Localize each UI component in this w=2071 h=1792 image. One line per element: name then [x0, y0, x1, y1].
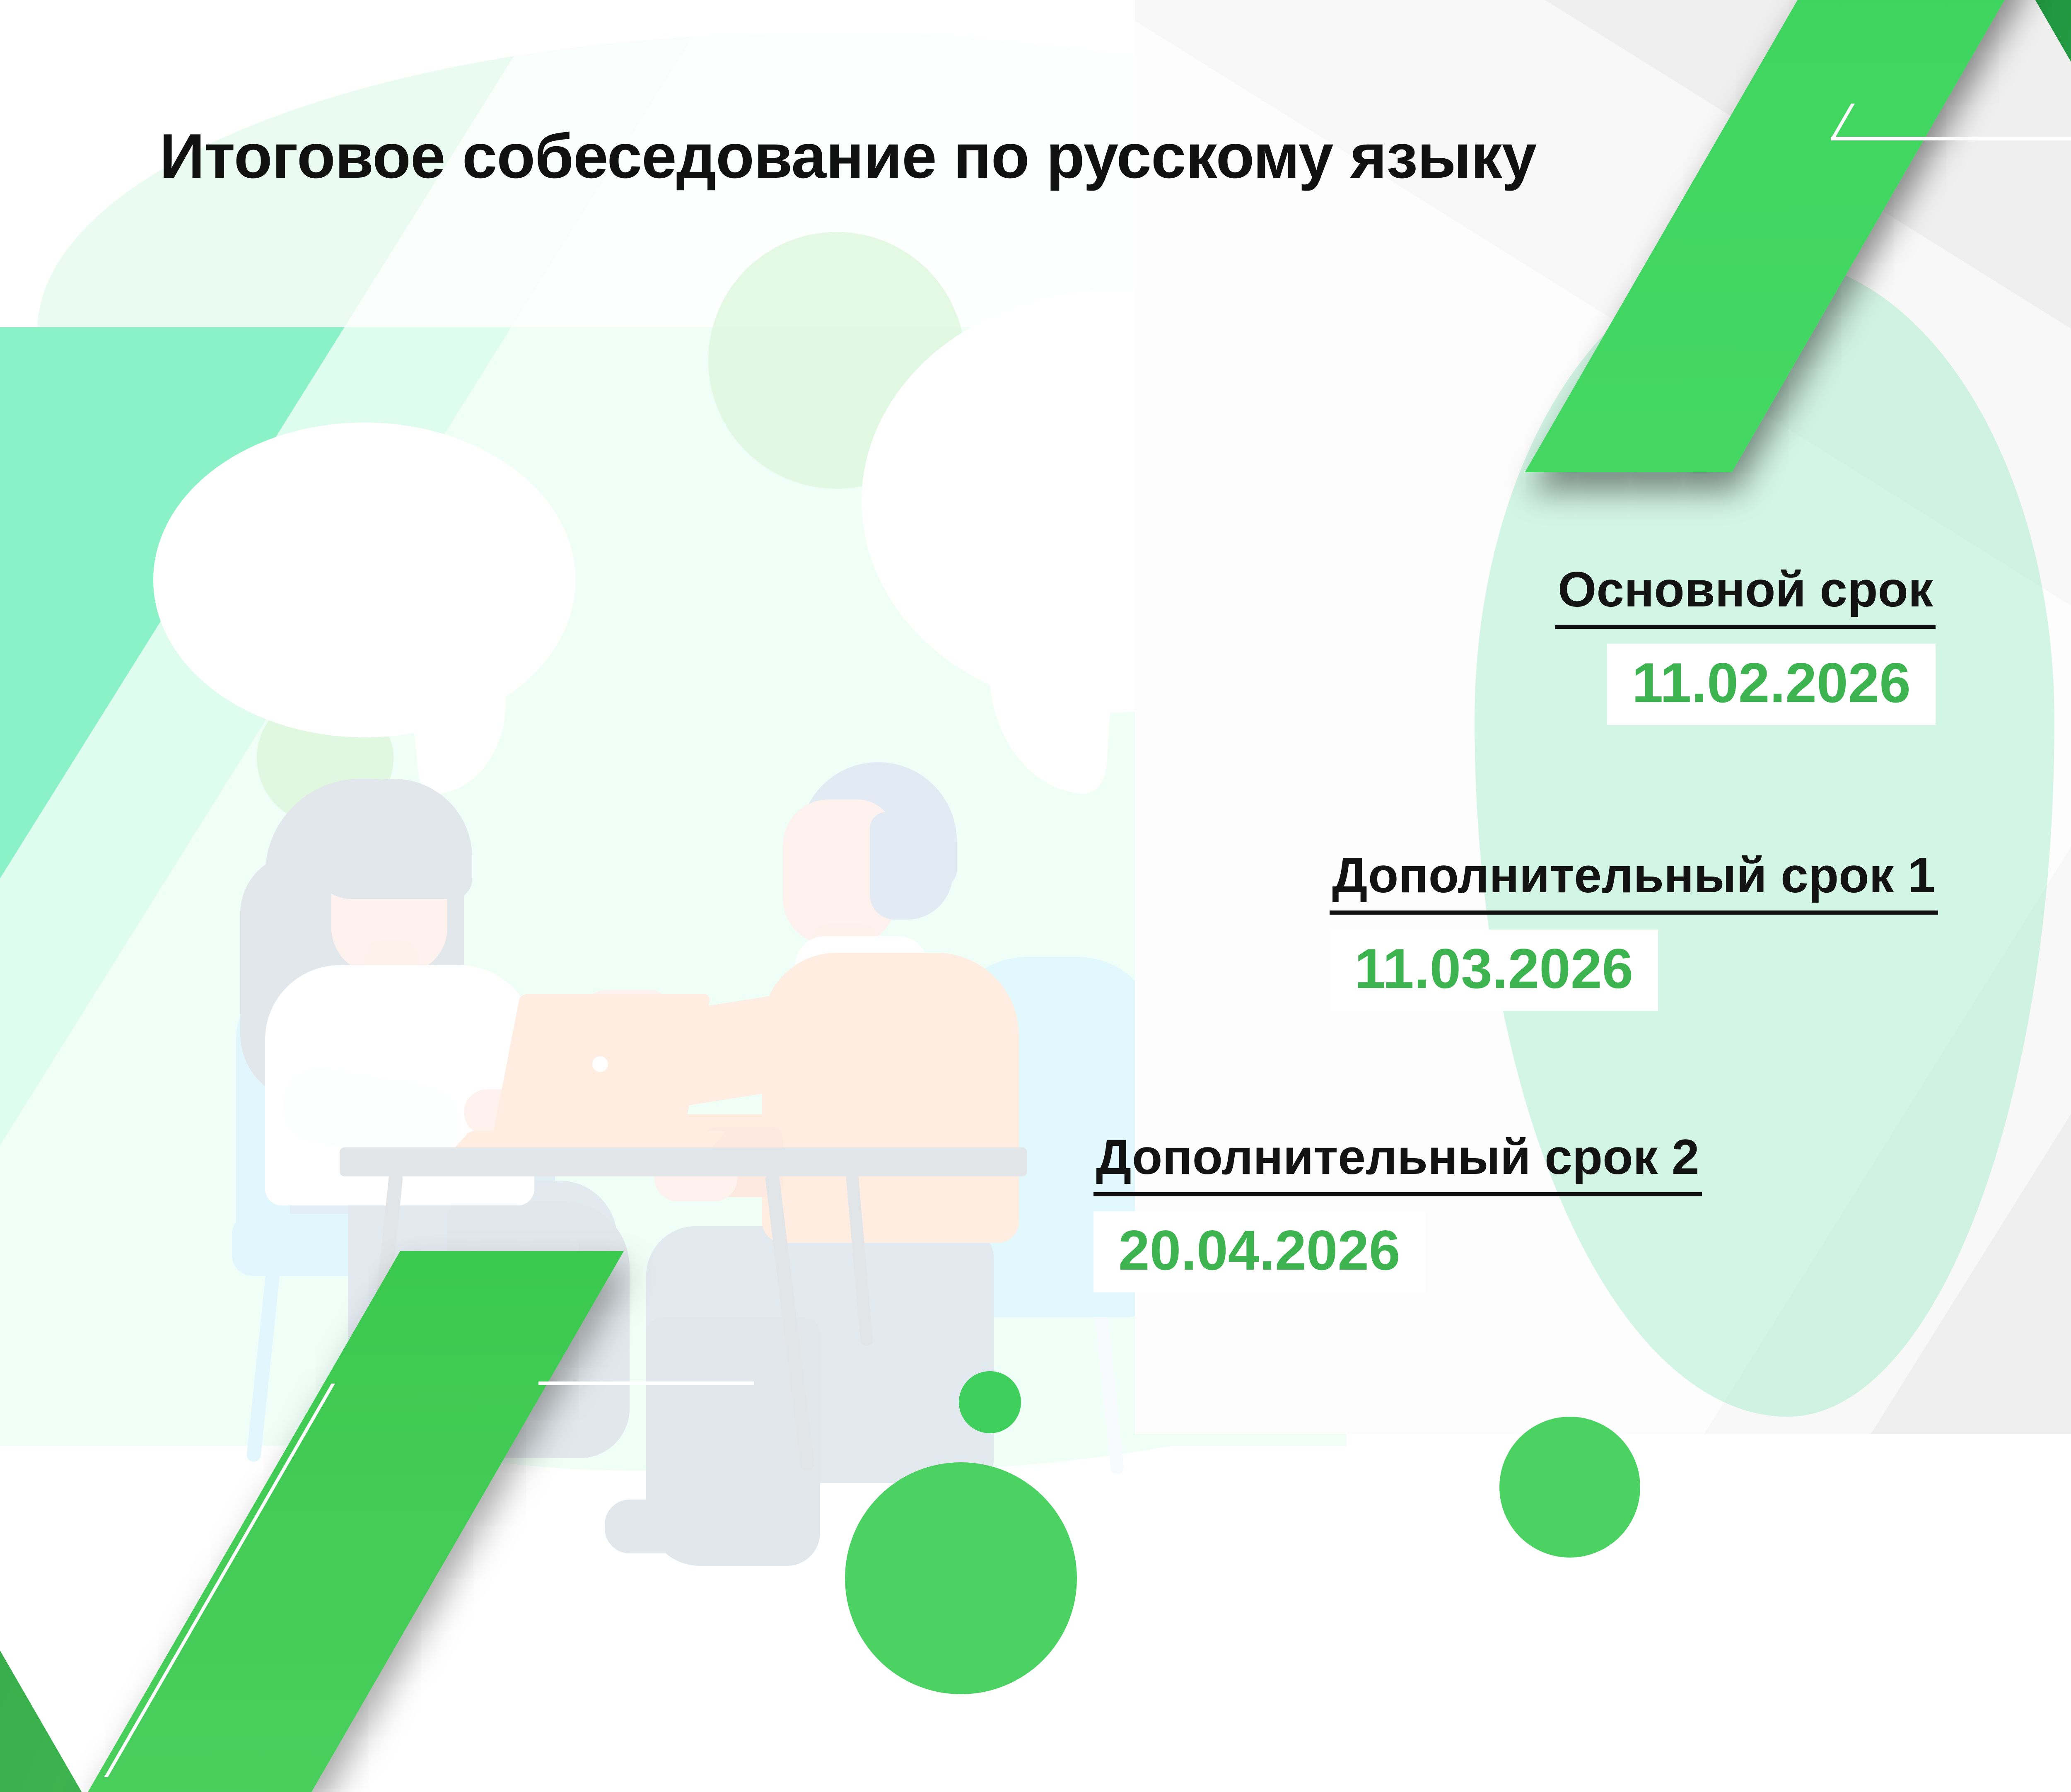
deadline-block-primary: Основной срок 11.02.2026 [1555, 563, 1936, 725]
green-circle-bottom-left [845, 1462, 1077, 1694]
page-title: Итоговое собеседование по русскому языку [159, 120, 1536, 193]
green-dot-mid [959, 1371, 1021, 1433]
deadline-label-primary: Основной срок [1555, 563, 1936, 629]
poster-canvas: Итоговое собеседование по русскому языку… [0, 0, 2071, 1792]
green-circle-bottom-right [1499, 1417, 1640, 1558]
ribbon-bottom-left-white-line-horizontal [538, 1381, 754, 1385]
deadline-label-extra-2: Дополнительный срок 2 [1093, 1131, 1702, 1196]
deadline-block-extra-1: Дополнительный срок 1 11.03.2026 [1330, 849, 1938, 1011]
deadline-date-extra-1: 11.03.2026 [1330, 930, 1658, 1011]
deadline-label-extra-1: Дополнительный срок 1 [1330, 849, 1938, 915]
deadline-date-extra-2: 20.04.2026 [1093, 1211, 1425, 1292]
ribbon-top-right-white-line [1831, 137, 2071, 140]
deadline-date-primary: 11.02.2026 [1607, 644, 1936, 725]
deadline-block-extra-2: Дополнительный срок 2 20.04.2026 [1093, 1131, 1702, 1292]
